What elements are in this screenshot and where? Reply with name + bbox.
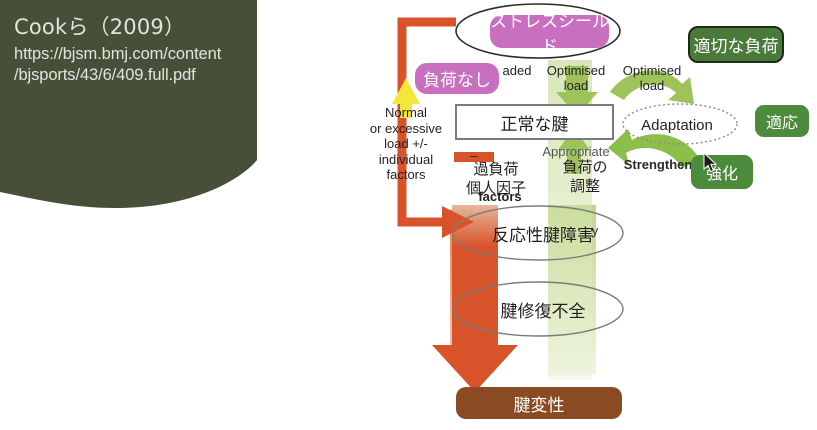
- label-optimised-load-right: Optimised load: [613, 64, 691, 93]
- label-normal-or-excessive-load: Normal or excessive load +/- individual …: [363, 105, 449, 183]
- node-reactive-tendinopathy[interactable]: 反応性腱障害: [468, 221, 618, 245]
- label-optimised-load-left: Optimised load: [537, 64, 615, 93]
- node-reactive-tendinopathy-label: 反応性腱障害: [492, 221, 594, 246]
- overlay-tendon-degeneration[interactable]: 腱変性: [456, 387, 622, 419]
- source-url-line-2: /bjsports/43/6/409.full.pdf: [14, 65, 264, 86]
- node-tendon-dysrepair-label: 腱修復不全: [501, 297, 586, 322]
- mouse-cursor: [703, 152, 719, 174]
- panel-text-block: Cookら（2009） https://bjsm.bmj.com/content…: [14, 14, 264, 86]
- overlay-no-load[interactable]: 負荷なし: [415, 63, 499, 94]
- overlay-no-load-label: 負荷なし: [423, 66, 491, 91]
- label-load-adjustment: 負荷の 調整: [548, 158, 622, 196]
- node-adaptation-ellipse[interactable]: Adaptation: [620, 114, 734, 136]
- source-url-line-1: https://bjsm.bmj.com/content: [14, 44, 264, 65]
- citation-text: Cookら（2009）: [14, 14, 264, 41]
- node-adaptation-label: Adaptation: [641, 117, 713, 134]
- slide-canvas: Cookら（2009） https://bjsm.bmj.com/content…: [0, 0, 817, 430]
- overlay-adaptation-label: 適応: [766, 109, 798, 133]
- overlay-appropriate-load[interactable]: 適切な負荷: [688, 26, 784, 63]
- overlay-stress-shield[interactable]: ストレスシールド: [490, 15, 609, 48]
- node-normal-tendon-label: 正常な腱: [501, 110, 569, 135]
- overlay-appropriate-load-label: 適切な負荷: [694, 32, 779, 57]
- overlay-strengthen[interactable]: 強化: [691, 155, 753, 189]
- label-overload-individual-factors: 過負荷 個人因子: [456, 160, 536, 198]
- overlay-adaptation[interactable]: 適応: [755, 105, 809, 137]
- node-normal-tendon[interactable]: 正常な腱: [455, 104, 614, 140]
- node-tendon-dysrepair[interactable]: 腱修復不全: [468, 297, 618, 321]
- overlay-stress-shield-label: ストレスシールド: [490, 7, 609, 57]
- overlay-tendon-degeneration-label: 腱変性: [514, 391, 565, 416]
